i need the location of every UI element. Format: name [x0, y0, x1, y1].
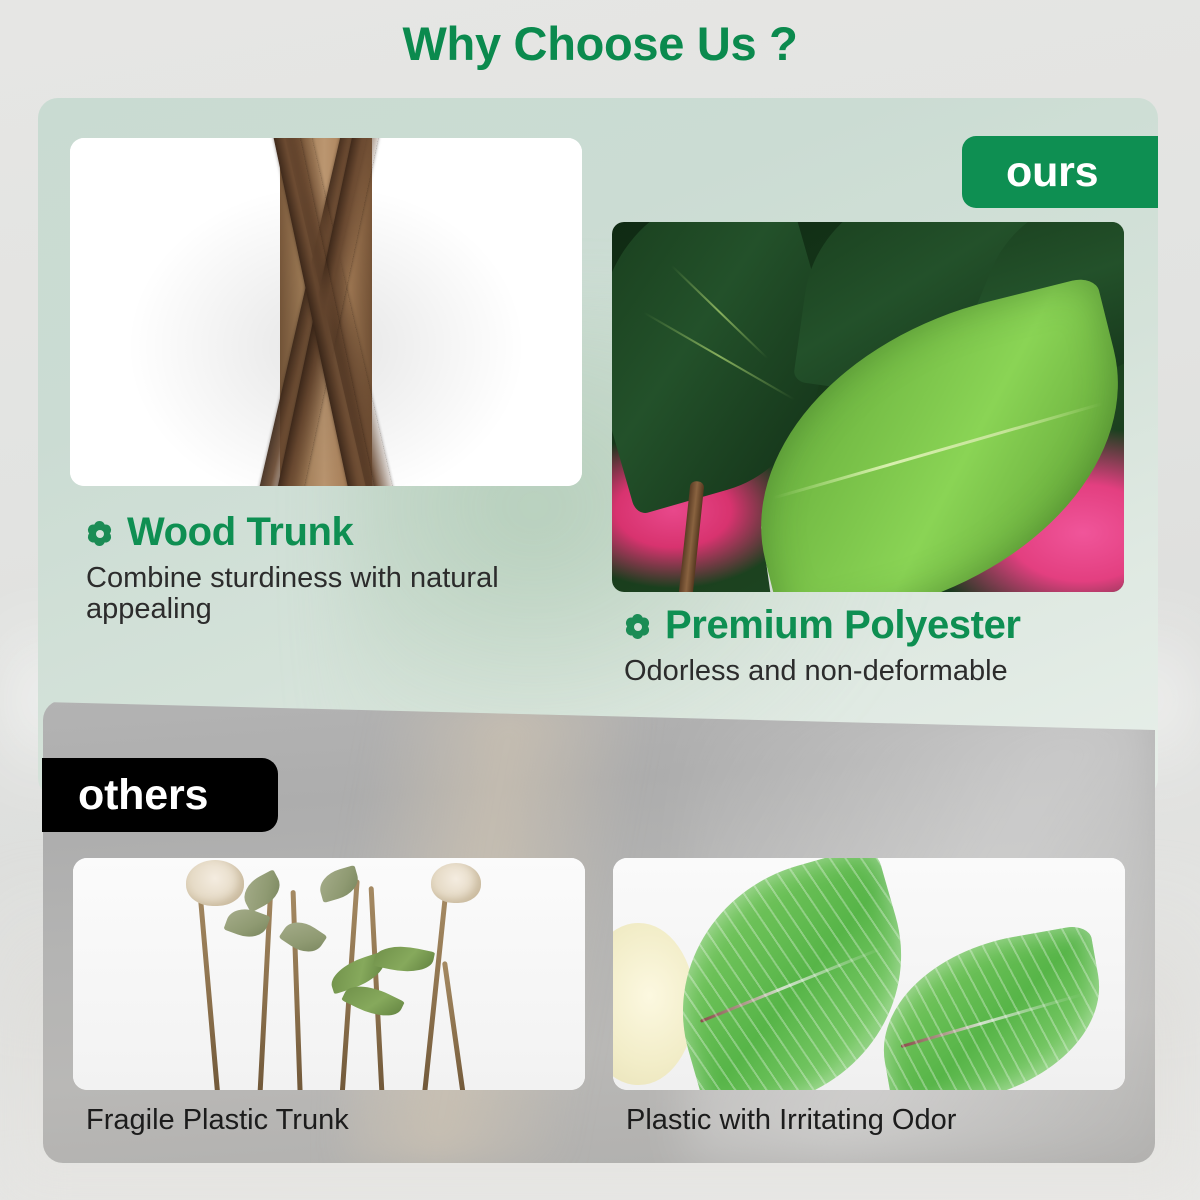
others-badge-label: others	[78, 771, 208, 820]
wilted-plant-photo	[73, 858, 585, 1090]
flower-asterisk-icon	[624, 613, 651, 640]
feature-premium-polyester-heading: Premium Polyester	[624, 603, 1021, 648]
feature-wood-trunk-subtitle: Combine sturdiness with natural appealin…	[86, 563, 566, 625]
plastic-leaves-photo	[613, 858, 1125, 1090]
plant-stem	[291, 891, 303, 1090]
dry-leaf	[278, 914, 327, 960]
dry-leaf	[223, 903, 270, 943]
plastic-odor-caption: Plastic with Irritating Odor	[626, 1104, 956, 1137]
others-badge: others	[42, 758, 278, 832]
feature-wood-trunk-heading: Wood Trunk	[86, 510, 566, 555]
plastic-odor-image-card	[613, 858, 1125, 1090]
feature-premium-polyester: Premium Polyester Odorless and non-defor…	[624, 603, 1021, 687]
plant-stem	[197, 882, 221, 1090]
fragile-trunk-image-card	[73, 858, 585, 1090]
feature-wood-trunk-title: Wood Trunk	[127, 510, 353, 555]
premium-leaf-photo	[612, 222, 1124, 592]
plastic-leaf	[868, 923, 1116, 1090]
plant-stem	[442, 961, 467, 1090]
fragile-trunk-caption: Fragile Plastic Trunk	[86, 1104, 349, 1137]
wood-trunk-photo	[70, 138, 582, 486]
ours-badge-label: ours	[1006, 148, 1098, 197]
feature-premium-polyester-subtitle: Odorless and non-deformable	[624, 656, 1021, 687]
wood-trunk-image-card	[70, 138, 582, 486]
wilted-flower	[186, 860, 244, 906]
trunk-shadow	[70, 138, 582, 486]
feature-wood-trunk: Wood Trunk Combine sturdiness with natur…	[86, 510, 566, 625]
plant-stem	[421, 896, 448, 1090]
ours-badge: ours	[962, 136, 1158, 208]
green-leaf	[373, 940, 435, 977]
page-title: Why Choose Us ?	[0, 16, 1200, 71]
feature-premium-polyester-title: Premium Polyester	[665, 603, 1021, 648]
wilted-flower	[431, 863, 481, 903]
flower-asterisk-icon	[86, 520, 113, 547]
premium-leaf-image-card	[612, 222, 1124, 592]
dry-leaf	[238, 869, 286, 913]
